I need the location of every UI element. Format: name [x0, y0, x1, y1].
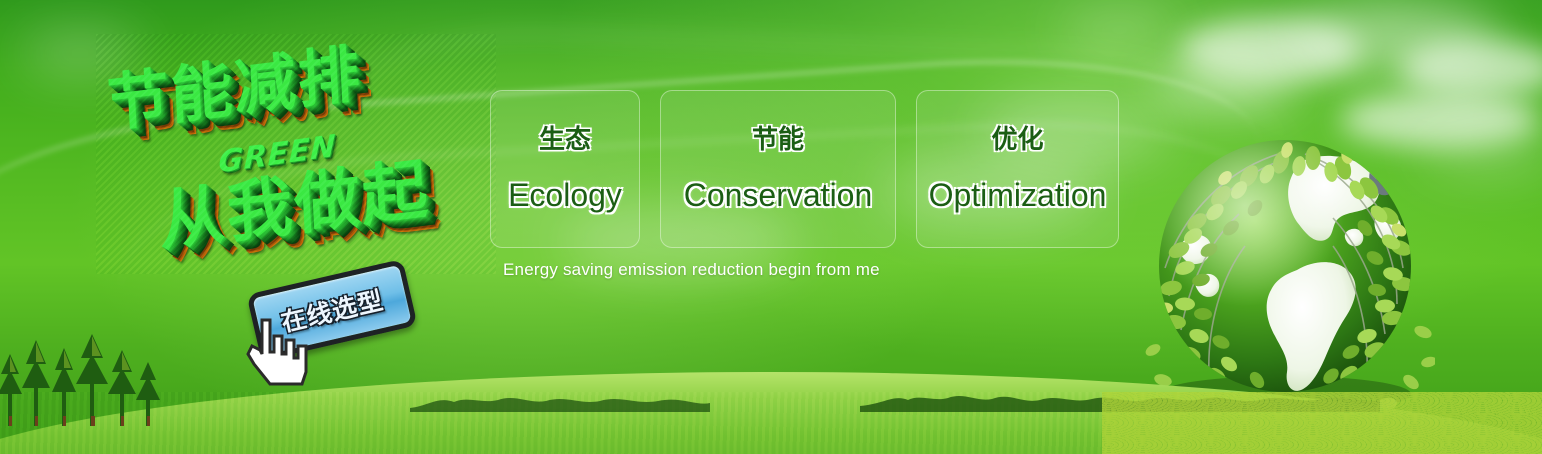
feature-card-en-label: Conservation — [684, 179, 873, 211]
feature-card-cn-label: 优化 — [991, 127, 1043, 153]
headline-artwork: 节能减排 GREEN 从我做起 — [96, 34, 496, 274]
feature-card-conservation[interactable]: 节能 Conservation — [660, 90, 896, 248]
leafy-globe-icon — [1135, 118, 1435, 418]
green-banner: 节能减排 GREEN 从我做起 在线选型 生态 Ecology 节能 Conse… — [0, 0, 1542, 454]
cloud-icon — [1180, 18, 1360, 82]
cta-group: 在线选型 — [252, 272, 422, 382]
conifer-trees-icon — [0, 330, 174, 426]
feature-card-cn-label: 生态 — [539, 127, 591, 153]
hand-pointer-icon — [242, 312, 316, 390]
banner-tagline: Energy saving emission reduction begin f… — [503, 260, 880, 280]
cloud-icon — [1290, 4, 1500, 74]
feature-card-list: 生态 Ecology 节能 Conservation 优化 Optimizati… — [490, 90, 1119, 248]
cloud-icon — [1060, 10, 1180, 50]
cloud-icon — [1150, 60, 1300, 112]
feature-card-en-label: Ecology — [508, 179, 622, 211]
cloud-icon — [1400, 40, 1542, 98]
cloud-icon — [1420, 130, 1542, 174]
feature-card-ecology[interactable]: 生态 Ecology — [490, 90, 640, 248]
headline-line-top: 节能减排 — [105, 22, 364, 143]
feature-card-optimization[interactable]: 优化 Optimization — [916, 90, 1119, 248]
distant-treeline-icon — [410, 386, 710, 412]
feature-card-en-label: Optimization — [929, 179, 1107, 211]
feature-card-cn-label: 节能 — [752, 127, 804, 153]
headline-line-bottom: 从我做起 — [156, 135, 431, 264]
